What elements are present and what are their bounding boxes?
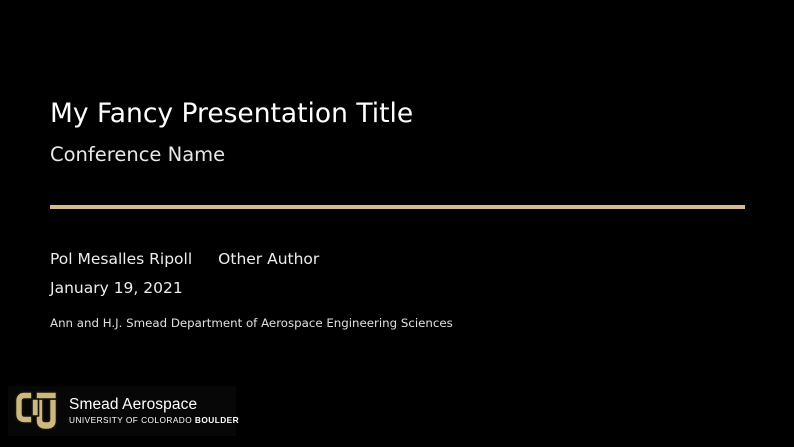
logo-text-block: Smead Aerospace UNIVERSITY OF COLORADO B… <box>69 397 239 425</box>
cu-interlocking-logo-icon <box>14 390 60 432</box>
title-block: My Fancy Presentation Title Conference N… <box>50 101 750 164</box>
presentation-subtitle: Conference Name <box>50 145 750 165</box>
page-title: My Fancy Presentation Title <box>50 101 750 128</box>
logo-primary-text: Smead Aerospace <box>69 397 239 413</box>
logo-secondary-bold: BOULDER <box>195 415 239 425</box>
title-slide: My Fancy Presentation Title Conference N… <box>0 0 794 447</box>
institute-line: Ann and H.J. Smead Department of Aerospa… <box>50 318 750 330</box>
metadata-block: Pol Mesalles RipollOther Author January … <box>50 252 750 330</box>
gold-divider-rule <box>50 205 745 209</box>
author-name-2: Other Author <box>218 250 319 268</box>
author-row: Pol Mesalles RipollOther Author <box>50 252 750 268</box>
author-name-1: Pol Mesalles Ripoll <box>50 250 192 268</box>
presentation-date: January 19, 2021 <box>50 281 750 297</box>
logo-secondary-regular: UNIVERSITY OF COLORADO <box>69 415 195 425</box>
cu-boulder-logo-lockup: Smead Aerospace UNIVERSITY OF COLORADO B… <box>8 386 236 436</box>
logo-secondary-text: UNIVERSITY OF COLORADO BOULDER <box>69 416 239 425</box>
